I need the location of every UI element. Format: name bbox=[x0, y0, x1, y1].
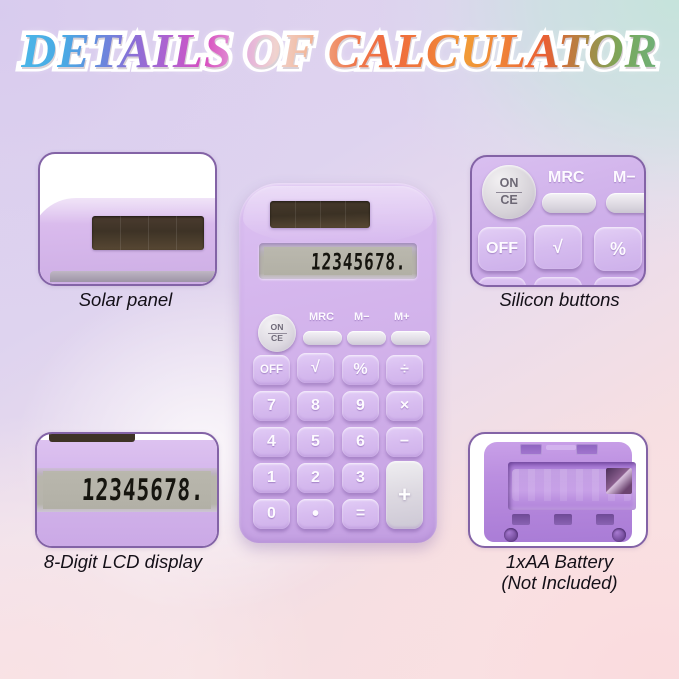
key-divide[interactable]: ÷ bbox=[386, 355, 423, 385]
off-key-closeup: OFF bbox=[478, 227, 526, 271]
key-6[interactable]: 6 bbox=[342, 427, 379, 457]
on-label-main: ON bbox=[271, 323, 284, 332]
key-partial-3 bbox=[594, 277, 642, 287]
m-plus-label: M+ bbox=[394, 311, 410, 323]
caption-battery: 1xAA Battery (Not Included) bbox=[452, 552, 667, 594]
lcd-screen: 12345678. bbox=[264, 247, 412, 275]
mrc-label-closeup: MRC bbox=[548, 169, 584, 187]
battery-slot bbox=[508, 462, 636, 510]
solar-strip-edge bbox=[49, 432, 135, 442]
cover-notch-2 bbox=[554, 514, 572, 525]
ce-label: CE bbox=[500, 194, 517, 207]
battery-terminal bbox=[606, 468, 632, 494]
infographic-canvas: DETAILS OF CALCULATOR DETAILS OF CALCULA… bbox=[0, 0, 679, 679]
key-plus[interactable]: + bbox=[386, 461, 423, 529]
sqrt-key-closeup: √ bbox=[534, 225, 582, 269]
m-minus-button[interactable] bbox=[347, 331, 386, 345]
detail-panel-solar-panel bbox=[38, 152, 217, 286]
key-partial-2 bbox=[534, 277, 582, 287]
key-decimal[interactable]: • bbox=[297, 499, 334, 529]
calculator-product-image: 12345678. ON CE MRC M− M+ OFF √ % ÷ 7 8 … bbox=[239, 183, 437, 543]
page-title: DETAILS OF CALCULATOR DETAILS OF CALCULA… bbox=[0, 26, 679, 75]
cover-tab-right bbox=[576, 444, 598, 455]
solar-panel bbox=[270, 201, 370, 228]
cover-tab-center bbox=[546, 445, 576, 450]
lcd-bezel-main: 12345678. bbox=[259, 243, 417, 279]
lcd-screen-closeup: 12345678. bbox=[43, 471, 211, 509]
key-9[interactable]: 9 bbox=[342, 391, 379, 421]
cover-notch-1 bbox=[512, 514, 530, 525]
on-ce-button-closeup: ON CE bbox=[482, 165, 536, 219]
lcd-bezel: 12345678. bbox=[37, 468, 217, 512]
detail-panel-lcd-display: 12345678. bbox=[35, 432, 219, 548]
on-ce-button[interactable]: ON CE bbox=[258, 314, 296, 352]
ce-label-main: CE bbox=[271, 334, 283, 343]
caption-silicon-buttons: Silicon buttons bbox=[452, 290, 667, 311]
on-label: ON bbox=[500, 177, 519, 190]
shell-rim bbox=[50, 271, 217, 282]
key-1[interactable]: 1 bbox=[253, 463, 290, 493]
cover-notch-3 bbox=[596, 514, 614, 525]
key-7[interactable]: 7 bbox=[253, 391, 290, 421]
key-4[interactable]: 4 bbox=[253, 427, 290, 457]
lcd-value-closeup: 12345678. bbox=[81, 473, 205, 507]
m-plus-button[interactable] bbox=[391, 331, 430, 345]
caption-solar-panel: Solar panel bbox=[18, 290, 233, 311]
key-equals[interactable]: = bbox=[342, 499, 379, 529]
cover-tab-left bbox=[520, 444, 542, 455]
key-off[interactable]: OFF bbox=[253, 355, 290, 385]
key-3[interactable]: 3 bbox=[342, 463, 379, 493]
mrc-label: MRC bbox=[309, 311, 334, 323]
key-2[interactable]: 2 bbox=[297, 463, 334, 493]
screw-hole-right bbox=[612, 528, 626, 542]
key-percent[interactable]: % bbox=[342, 355, 379, 385]
m-minus-label: M− bbox=[354, 311, 370, 323]
caption-lcd-display: 8-Digit LCD display bbox=[8, 552, 238, 573]
solar-cell-closeup bbox=[92, 216, 204, 250]
detail-panel-battery-compartment bbox=[468, 432, 648, 548]
page-title-text: DETAILS OF CALCULATOR bbox=[21, 23, 658, 78]
percent-key-closeup: % bbox=[594, 227, 642, 271]
key-partial-1 bbox=[478, 277, 526, 287]
mrc-oval-button-closeup bbox=[542, 193, 596, 213]
m-minus-label-closeup: M− bbox=[613, 169, 636, 187]
key-sqrt[interactable]: √ bbox=[297, 353, 334, 383]
detail-panel-silicon-buttons: ON CE MRC M− OFF √ % bbox=[470, 155, 646, 287]
key-minus[interactable]: − bbox=[386, 427, 423, 457]
lcd-value: 12345678. bbox=[311, 248, 408, 275]
key-8[interactable]: 8 bbox=[297, 391, 334, 421]
battery-back-cover bbox=[484, 442, 632, 542]
key-0[interactable]: 0 bbox=[253, 499, 290, 529]
m-minus-oval-button-closeup bbox=[606, 193, 646, 213]
key-multiply[interactable]: × bbox=[386, 391, 423, 421]
screw-hole-left bbox=[504, 528, 518, 542]
key-5[interactable]: 5 bbox=[297, 427, 334, 457]
mrc-button[interactable] bbox=[303, 331, 342, 345]
